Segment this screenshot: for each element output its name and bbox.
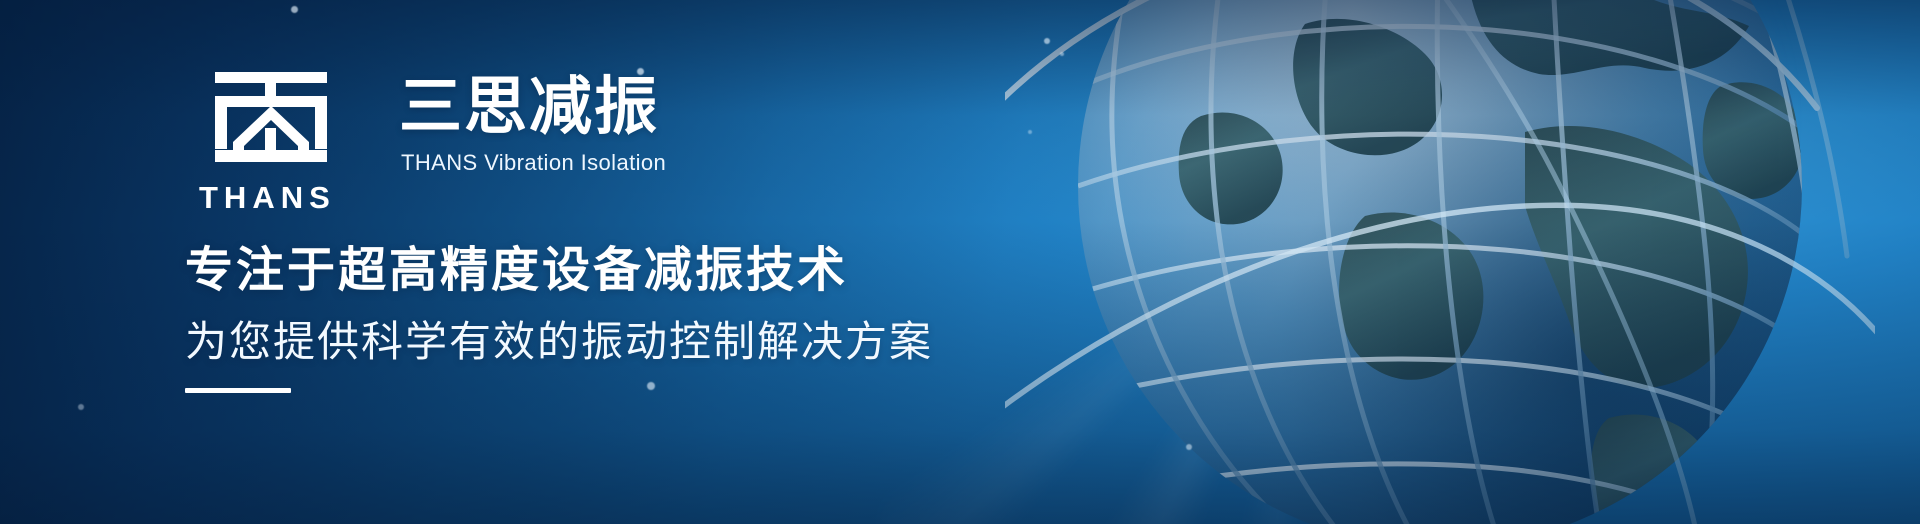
hero-headline: 专注于超高精度设备减振技术	[185, 243, 848, 298]
logo-wordmark: THANS	[199, 182, 355, 213]
banner-content: THANS 三思减振 THANS Vibration Isolation 专注于…	[0, 0, 1020, 524]
logo-block[interactable]: THANS	[185, 72, 355, 213]
bokeh-dot	[1028, 130, 1032, 134]
thans-seal-logo-icon	[213, 72, 329, 172]
brand-name-cn: 三思减振	[399, 74, 666, 141]
brand-text-block: 三思减振 THANS Vibration Isolation	[399, 72, 666, 176]
accent-rule	[185, 388, 291, 393]
hero-banner: THANS 三思减振 THANS Vibration Isolation 专注于…	[0, 0, 1920, 524]
hero-subheadline: 为您提供科学有效的振动控制解决方案	[185, 318, 933, 367]
bokeh-dot	[1044, 38, 1050, 44]
brand-lockup: THANS 三思减振 THANS Vibration Isolation	[185, 72, 666, 213]
brand-name-en: THANS Vibration Isolation	[401, 150, 666, 176]
bokeh-dot	[1186, 444, 1192, 450]
bokeh-dot	[1060, 52, 1064, 56]
